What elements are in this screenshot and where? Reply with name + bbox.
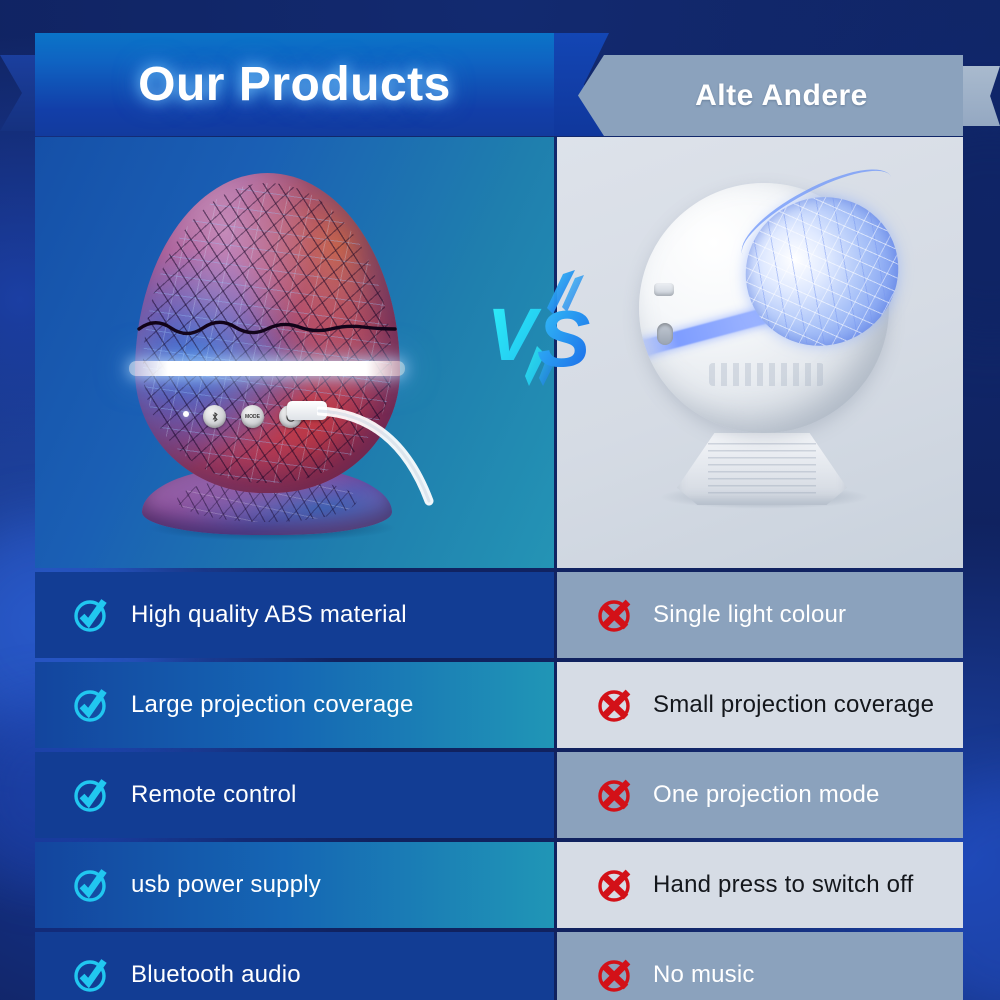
comparison-row: Remote control One projection mode <box>0 752 1000 838</box>
cross-circle-icon <box>595 865 635 905</box>
vs-badge: V S <box>489 268 609 388</box>
check-circle-icon <box>71 955 111 995</box>
our-feature-cell: Bluetooth audio <box>35 932 554 1000</box>
ball-base <box>677 433 847 505</box>
check-circle-icon <box>71 775 111 815</box>
egg-crackle-texture <box>143 183 392 484</box>
comparison-table: High quality ABS material Single light c… <box>0 572 1000 1000</box>
cross-circle-icon <box>595 595 635 635</box>
our-feature-label: usb power supply <box>131 871 321 899</box>
check-circle-icon <box>71 595 111 635</box>
competitor-feature-label: Small projection coverage <box>653 691 934 719</box>
comparison-row: Large projection coverage Small projecti… <box>0 662 1000 748</box>
our-feature-label: Large projection coverage <box>131 691 414 719</box>
competitor-feature-label: Single light colour <box>653 601 846 629</box>
check-circle-icon <box>71 595 111 635</box>
cross-circle-icon <box>595 775 635 815</box>
ball-usb-port <box>657 323 673 345</box>
competitor-feature-cell: Hand press to switch off <box>557 842 963 928</box>
competitor-feature-label: No music <box>653 961 755 989</box>
cross-circle-icon <box>595 595 635 635</box>
bluetooth-glyph <box>209 411 221 423</box>
competitor-feature-label: One projection mode <box>653 781 880 809</box>
our-products-title: Our Products <box>35 33 554 136</box>
check-circle-icon <box>71 955 111 995</box>
our-feature-label: Remote control <box>131 781 297 809</box>
bluetooth-icon[interactable] <box>203 405 226 428</box>
our-product-image-panel: MODE <box>35 137 554 568</box>
check-circle-icon <box>71 775 111 815</box>
check-circle-icon <box>71 865 111 905</box>
comparison-row: High quality ABS material Single light c… <box>0 572 1000 658</box>
usb-plug <box>287 401 327 420</box>
alte-andere-title: Alte Andere <box>600 55 963 136</box>
led-indicator <box>183 411 189 417</box>
vs-letter-v: V <box>489 293 542 376</box>
our-feature-cell: Large projection coverage <box>35 662 554 748</box>
competitor-feature-cell: Single light colour <box>557 572 963 658</box>
our-feature-cell: High quality ABS material <box>35 572 554 658</box>
comparison-row: Bluetooth audio No music <box>0 932 1000 1000</box>
ball-logo-emboss <box>709 363 824 386</box>
white-ball-projector-image <box>617 177 907 527</box>
competitor-product-image-panel <box>557 137 963 568</box>
competitor-feature-cell: Small projection coverage <box>557 662 963 748</box>
competitor-feature-cell: One projection mode <box>557 752 963 838</box>
egg-body <box>135 173 400 493</box>
cross-circle-icon <box>595 865 635 905</box>
dinosaur-egg-projector-image: MODE <box>107 165 437 545</box>
cross-circle-icon <box>595 685 635 725</box>
competitor-feature-label: Hand press to switch off <box>653 871 913 899</box>
cross-circle-icon <box>595 685 635 725</box>
egg-light-ring <box>129 361 405 376</box>
cross-circle-icon <box>595 955 635 995</box>
competitor-feature-cell: No music <box>557 932 963 1000</box>
comparison-row: usb power supply Hand press to switch of… <box>0 842 1000 928</box>
mode-button[interactable]: MODE <box>241 405 264 428</box>
mode-button-label: MODE <box>245 414 260 420</box>
vs-letter-s: S <box>537 294 590 383</box>
our-feature-cell: usb power supply <box>35 842 554 928</box>
our-feature-label: Bluetooth audio <box>131 961 301 989</box>
cross-circle-icon <box>595 775 635 815</box>
our-feature-label: High quality ABS material <box>131 601 407 629</box>
check-circle-icon <box>71 685 111 725</box>
ball-side-button[interactable] <box>654 283 674 296</box>
check-circle-icon <box>71 685 111 725</box>
check-circle-icon <box>71 865 111 905</box>
cross-circle-icon <box>595 955 635 995</box>
our-feature-cell: Remote control <box>35 752 554 838</box>
